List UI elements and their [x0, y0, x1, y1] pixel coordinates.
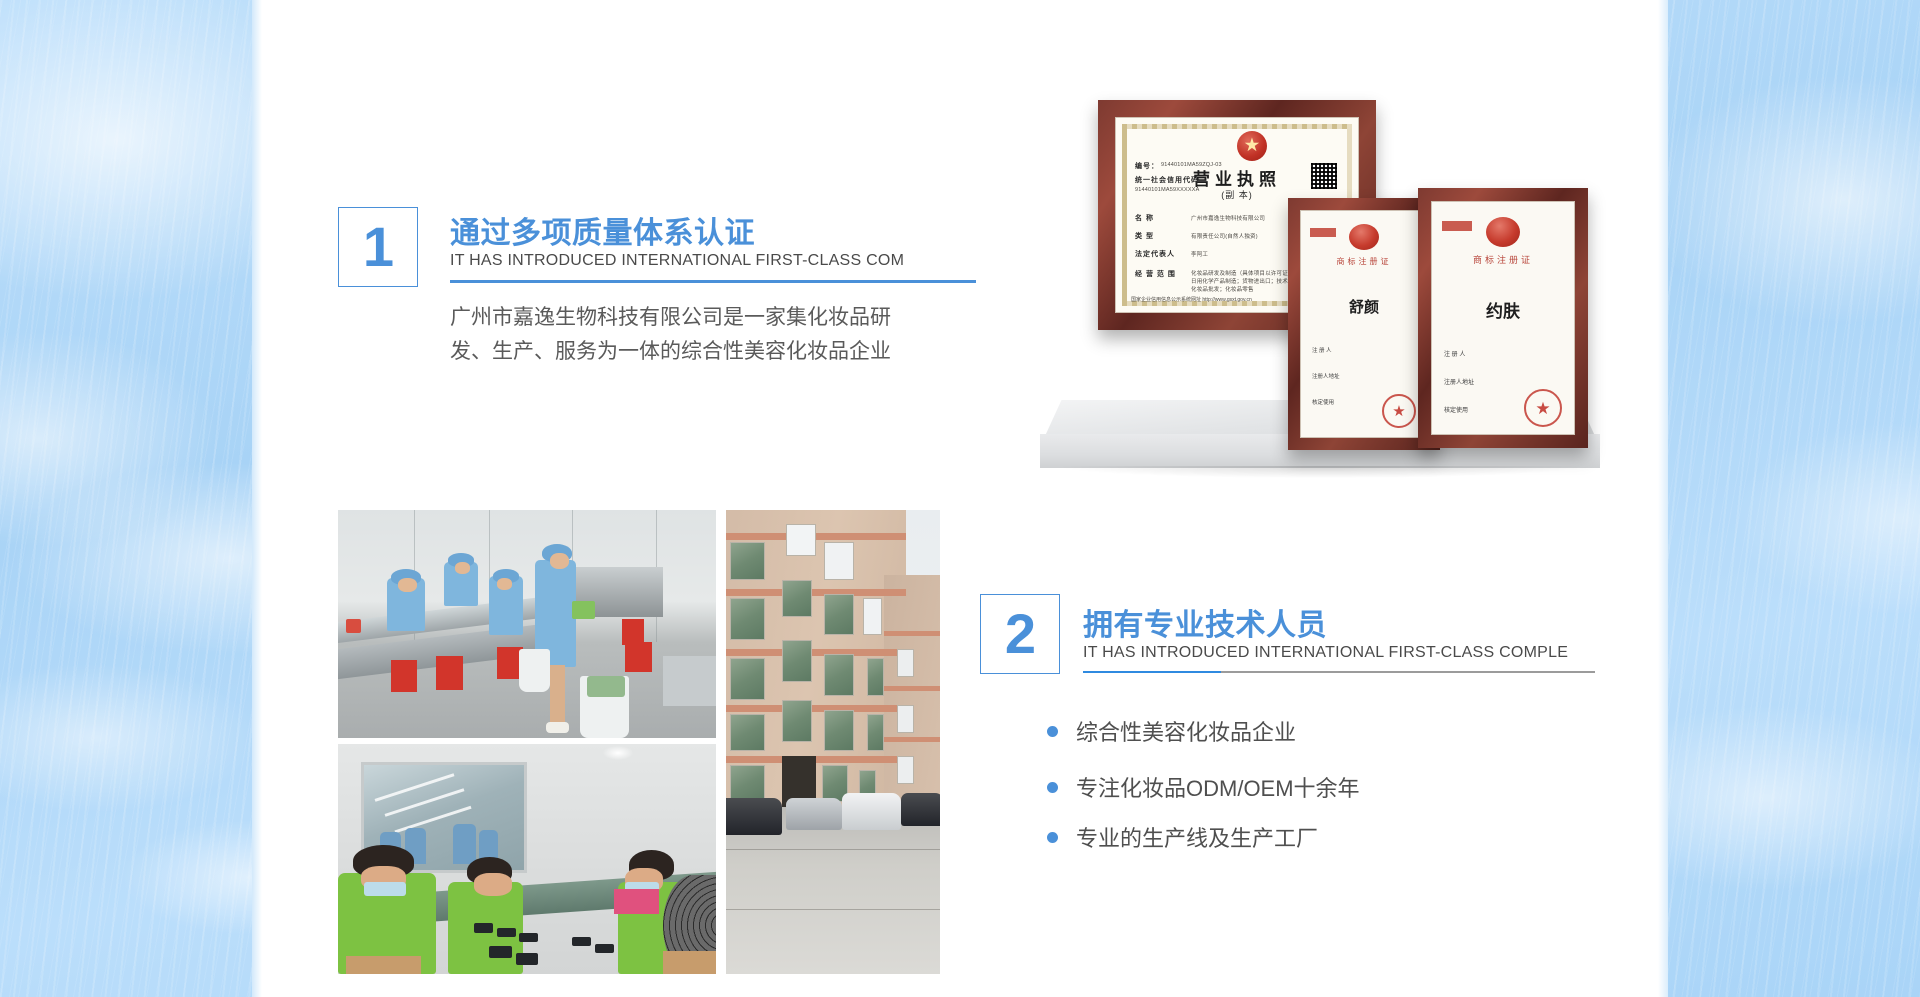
section-1-body-text: 广州市嘉逸生物科技有限公司是一家集化妆品研 发、生产、服务为一体的综合性美容化妆…	[450, 301, 990, 369]
building-window	[897, 649, 914, 677]
building-window	[786, 524, 816, 556]
pedestal-shadow	[1060, 466, 1580, 478]
license-field-value: 91440101MA59XXXXXA	[1135, 187, 1199, 193]
national-emblem-icon	[1237, 131, 1267, 161]
license-field-value: 91440101MA59ZQJ-03	[1161, 162, 1222, 168]
red-stool	[391, 660, 417, 692]
trademark-certificate-frame-2: 商标注册证 约肤 注 册 人 注册人地址 核定使用 ★	[1418, 188, 1588, 448]
packaging-workers-photo	[338, 744, 716, 974]
red-stool	[625, 642, 651, 672]
facade-floor-band	[884, 737, 940, 742]
compact-case-product	[595, 944, 614, 953]
face-mask	[364, 882, 406, 896]
building-window	[782, 640, 812, 682]
compact-case-product	[489, 946, 512, 958]
facade-floor-band	[726, 589, 906, 596]
section-2-number-badge: 2	[980, 594, 1060, 674]
ground-seam-line	[726, 909, 940, 910]
facade-floor-band	[726, 705, 906, 712]
bullet-label: 专注化妆品ODM/OEM十余年	[1076, 771, 1360, 803]
trademark-mark-name: 约肤	[1431, 297, 1575, 322]
license-field-label: 经 营 范 围	[1135, 269, 1176, 279]
license-field-value: 广州市嘉逸生物科技有限公司	[1191, 214, 1265, 222]
trademark-cert-header: 商标注册证	[1300, 256, 1428, 267]
list-item: 专注化妆品ODM/OEM十余年	[1047, 771, 1360, 803]
trademark-row-label: 注册人地址	[1444, 377, 1474, 386]
facade-floor-band	[726, 533, 906, 540]
building-window	[867, 658, 884, 695]
official-red-stamp-icon: ★	[1524, 389, 1562, 427]
facade-floor-band	[884, 686, 940, 691]
trademark-mark-name: 舒颜	[1300, 296, 1428, 317]
building-window	[730, 598, 764, 640]
section-1-number-badge: 1	[338, 207, 418, 287]
section-1-divider	[450, 280, 976, 283]
section-2-divider	[1083, 671, 1595, 673]
certificates-on-pedestal-photo: 营业执照 (副 本) 编号： 91440101MA59ZQJ-03 统一社会信用…	[1040, 100, 1600, 480]
facade-floor-band	[726, 649, 906, 656]
compact-case-product	[516, 953, 539, 965]
worker-leg	[550, 665, 565, 727]
parked-car	[842, 793, 902, 830]
building-window	[863, 598, 882, 635]
section-2-subtitle: IT HAS INTRODUCED INTERNATIONAL FIRST-CL…	[1083, 644, 1568, 662]
cardboard-carton	[346, 956, 422, 974]
qr-code-icon	[1311, 163, 1337, 189]
worker-shoe	[546, 722, 569, 733]
compact-case-product	[474, 923, 493, 932]
building-window	[824, 654, 854, 696]
trademark-office-logo	[1310, 228, 1336, 237]
cardboard-carton	[663, 951, 716, 974]
worker-face	[550, 553, 569, 569]
worker-behind-glass	[453, 824, 475, 864]
factory-building-photo	[726, 510, 940, 974]
facade-floor-band	[726, 756, 906, 763]
trademark-row-label: 注 册 人	[1444, 349, 1465, 358]
parked-car	[786, 798, 842, 830]
national-emblem-icon	[1486, 217, 1520, 247]
building-window	[897, 756, 914, 784]
section-1-title: 通过多项质量体系认证	[450, 208, 755, 252]
trademark-row-label: 注 册 人	[1312, 346, 1332, 354]
building-window	[730, 765, 764, 802]
license-field-label: 类 型	[1135, 231, 1154, 241]
license-footer-url: 国家企业信用信息公示系统网址 http://www.gsxt.gov.cn	[1131, 296, 1252, 303]
license-field-value: 李阿工	[1191, 250, 1208, 258]
green-bottle	[572, 601, 595, 619]
trademark-row-label: 核定使用	[1312, 398, 1334, 406]
trademark-row-label: 核定使用	[1444, 405, 1468, 414]
ground-seam-line	[726, 849, 940, 850]
building-window	[824, 542, 854, 579]
building-window	[730, 658, 764, 700]
building-window	[782, 580, 812, 617]
building-window	[782, 700, 812, 742]
parked-car	[726, 798, 782, 835]
license-field-label: 统一社会信用代码	[1135, 175, 1199, 185]
compact-case-product	[497, 928, 516, 937]
building-window	[730, 714, 764, 751]
building-window	[867, 714, 884, 751]
building-window	[824, 594, 854, 636]
bullet-dot-icon	[1047, 832, 1058, 843]
license-field-label: 名 称	[1135, 213, 1154, 223]
list-item: 综合性美容化妆品企业	[1047, 715, 1296, 747]
red-bottle	[346, 619, 361, 633]
trademark-cert-header: 商标注册证	[1431, 253, 1575, 266]
product-contents	[587, 676, 625, 697]
worker-face	[474, 873, 512, 896]
bullet-dot-icon	[1047, 782, 1058, 793]
pink-parts-basket	[614, 889, 659, 914]
official-red-stamp-icon: ★	[1382, 394, 1416, 428]
red-stool	[622, 619, 645, 644]
section-2-title: 拥有专业技术人员	[1083, 600, 1327, 644]
license-field-value: 有限责任公司(自然人独资)	[1191, 232, 1258, 240]
license-field-label: 编号：	[1135, 161, 1159, 171]
trademark-row-label: 注册人地址	[1312, 372, 1340, 380]
building-window	[730, 542, 764, 579]
bullet-label: 专业的生产线及生产工厂	[1076, 821, 1318, 853]
parked-car	[901, 793, 940, 825]
trademark-office-logo	[1442, 221, 1472, 231]
compact-case-product	[572, 937, 591, 946]
worker-face	[497, 578, 512, 589]
compact-case-product	[519, 933, 538, 942]
bullet-dot-icon	[1047, 726, 1058, 737]
worker-face	[455, 562, 470, 573]
section-1-subtitle: IT HAS INTRODUCED INTERNATIONAL FIRST-CL…	[450, 252, 904, 270]
building-window	[824, 710, 854, 752]
worker-face	[398, 578, 417, 592]
production-line-photo	[338, 510, 716, 738]
list-item: 专业的生产线及生产工厂	[1047, 821, 1318, 853]
steel-table	[663, 656, 716, 706]
license-field-label: 法定代表人	[1135, 249, 1175, 259]
bullet-label: 综合性美容化妆品企业	[1076, 715, 1296, 747]
red-stool	[436, 656, 462, 690]
facade-floor-band	[884, 631, 940, 636]
white-bucket	[519, 649, 549, 692]
building-window	[897, 705, 914, 733]
national-emblem-icon	[1349, 224, 1379, 250]
